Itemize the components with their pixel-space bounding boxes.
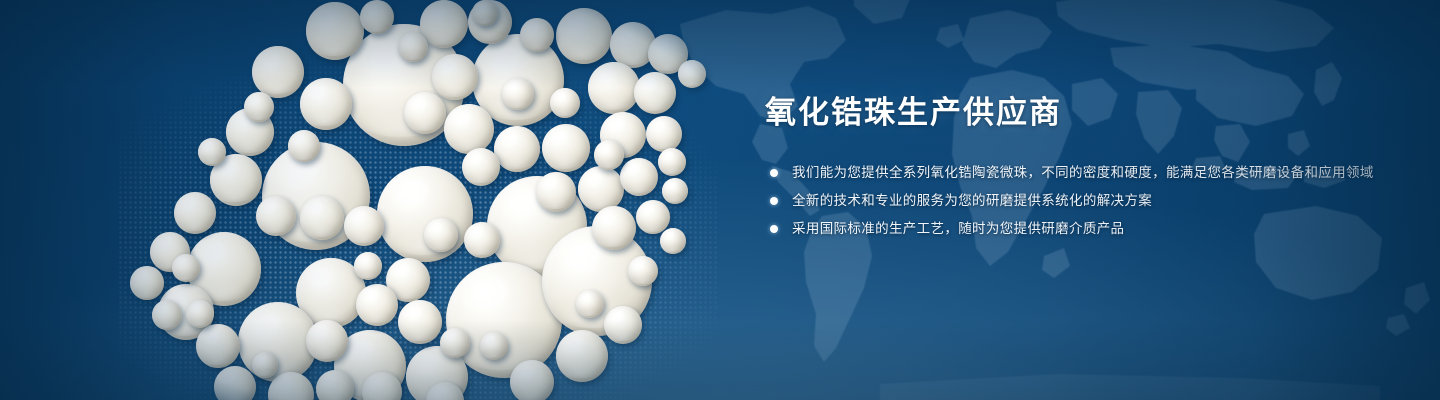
hero-banner: 氧化锆珠生产供应商 我们能为您提供全系列氧化锆陶瓷微珠，不同的密度和硬度，能满足… [0, 0, 1440, 400]
banner-vignette-overlay [0, 0, 1440, 400]
